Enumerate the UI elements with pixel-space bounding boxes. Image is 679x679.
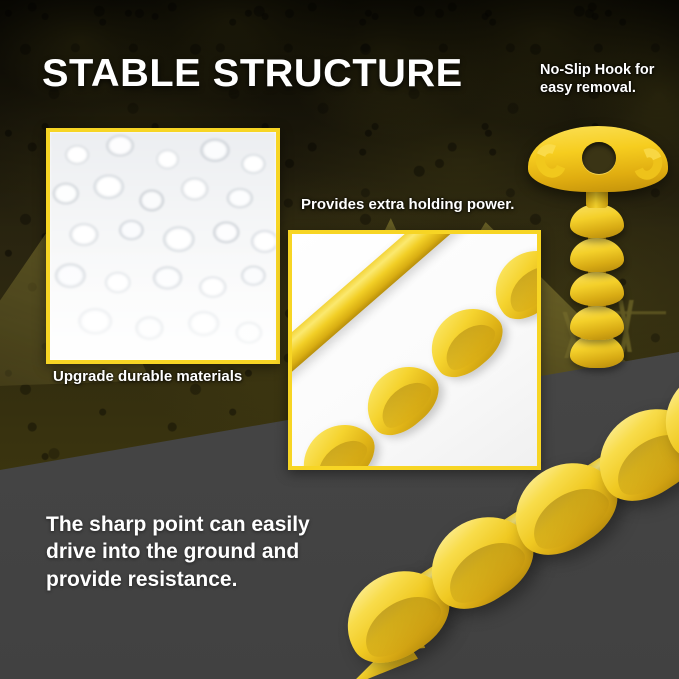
plastic-pellets-photo <box>46 128 280 364</box>
hook-right-icon <box>629 144 667 184</box>
caption-no-slip-hook: No-Slip Hook for easy removal. <box>540 62 672 97</box>
caption-sharp-point: The sharp point can easily drive into th… <box>46 511 336 593</box>
center-eyelet <box>582 142 616 174</box>
caption-holding-power: Provides extra holding power. <box>301 196 514 214</box>
hook-left-icon <box>531 140 572 183</box>
caption-durable-materials: Upgrade durable materials <box>53 368 242 386</box>
product-infographic-poster: STABLE STRUCTURE <box>0 0 679 679</box>
no-slip-hook-head <box>528 126 668 192</box>
stake-thread-flight <box>570 272 624 306</box>
stake-thread-flight <box>570 204 624 238</box>
page-title: STABLE STRUCTURE <box>42 52 463 96</box>
stake-thread-flight <box>570 306 624 340</box>
large-stake-diagonal <box>330 396 679 679</box>
pellet-depth-fade <box>50 132 276 360</box>
stake-thread-flight <box>570 238 624 272</box>
hero-tent-stake <box>512 126 679 358</box>
